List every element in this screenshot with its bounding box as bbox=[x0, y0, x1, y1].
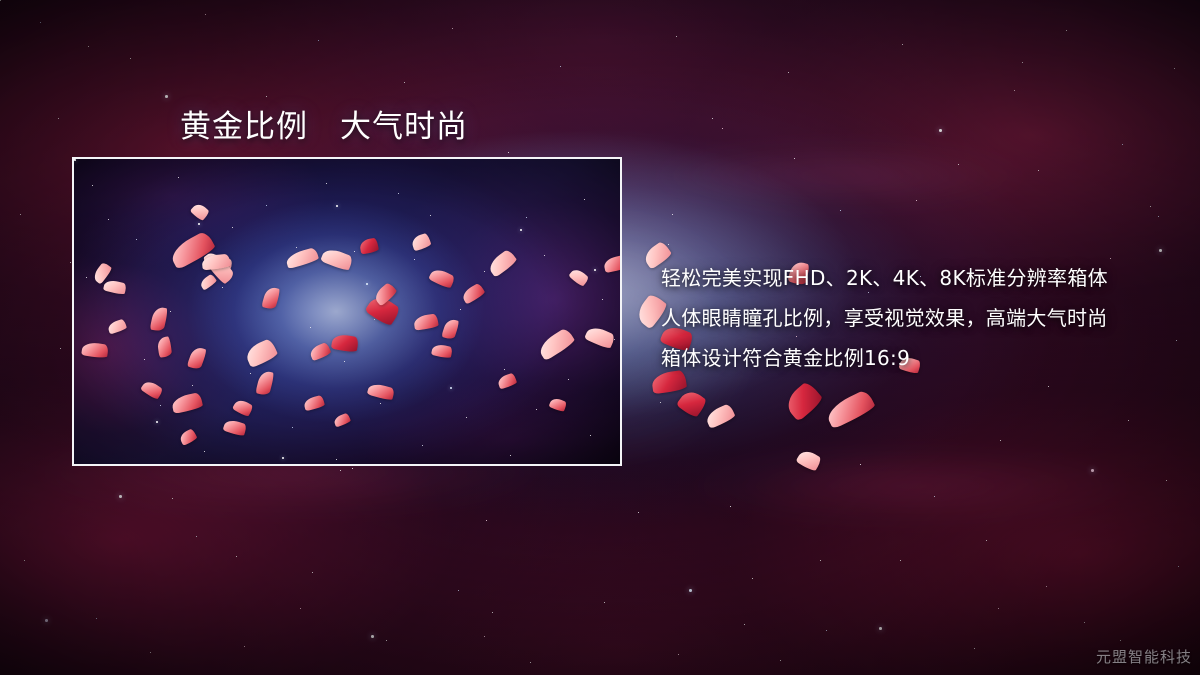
watermark: 元盟智能科技 bbox=[1096, 646, 1192, 667]
presentation-slide: 黄金比例 大气时尚 bbox=[0, 0, 1200, 675]
page-title: 黄金比例 大气时尚 bbox=[180, 101, 468, 146]
body-line: 箱体设计符合黄金比例16:9 bbox=[661, 338, 1181, 378]
body-line: 人体眼睛瞳孔比例，享受视觉效果，高端大气时尚 bbox=[661, 298, 1181, 338]
body-line: 轻松完美实现FHD、2K、4K、8K标准分辨率箱体 bbox=[661, 258, 1181, 298]
body-copy: 轻松完美实现FHD、2K、4K、8K标准分辨率箱体 人体眼睛瞳孔比例，享受视觉效… bbox=[661, 258, 1181, 378]
picture-frame bbox=[72, 157, 622, 466]
